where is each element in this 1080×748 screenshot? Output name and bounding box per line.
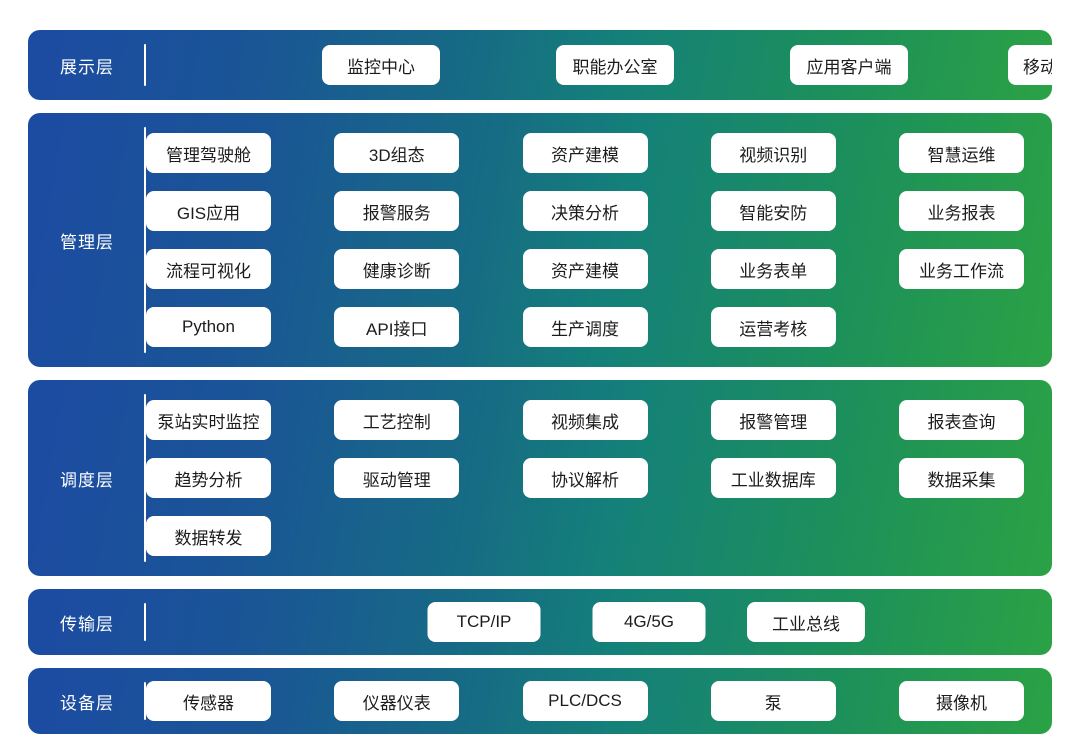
grid-empty-slot xyxy=(334,516,459,556)
layer-body-device: 传感器 仪器仪表 PLC/DCS 泵 摄像机 xyxy=(146,668,1052,734)
card-python[interactable]: Python xyxy=(146,307,271,347)
card-management-cockpit[interactable]: 管理驾驶舱 xyxy=(146,133,271,173)
card-health-diagnosis[interactable]: 健康诊断 xyxy=(334,249,459,289)
card-intelligent-security[interactable]: 智能安防 xyxy=(711,191,836,231)
layer-device: 设备层 传感器 仪器仪表 PLC/DCS 泵 摄像机 xyxy=(28,668,1052,734)
layer-label-management: 管理层 xyxy=(60,228,114,253)
card-alarm-service[interactable]: 报警服务 xyxy=(334,191,459,231)
card-trend-analysis[interactable]: 趋势分析 xyxy=(146,458,271,498)
card-tcp-ip[interactable]: TCP/IP xyxy=(428,602,541,642)
architecture-diagram: 展示层 监控中心 职能办公室 应用客户端 移动智能终端 管理层 管理驾驶舱 3D… xyxy=(0,0,1080,748)
card-functional-office[interactable]: 职能办公室 xyxy=(556,45,674,85)
card-operation-assessment[interactable]: 运营考核 xyxy=(711,307,836,347)
card-api-interface[interactable]: API接口 xyxy=(334,307,459,347)
layer-label-presentation-col: 展示层 xyxy=(28,30,146,100)
card-industrial-bus[interactable]: 工业总线 xyxy=(747,602,865,642)
card-industrial-database[interactable]: 工业数据库 xyxy=(711,458,836,498)
layer-body-management: 管理驾驶舱 3D组态 资产建模 视频识别 智慧运维 GIS应用 报警服务 决策分… xyxy=(146,113,1052,367)
card-pump[interactable]: 泵 xyxy=(711,681,836,721)
layer-body-transmission: TCP/IP 4G/5G 工业总线 xyxy=(146,589,1052,655)
layer-label-device-col: 设备层 xyxy=(28,668,146,734)
grid-empty-slot xyxy=(523,516,648,556)
card-process-control[interactable]: 工艺控制 xyxy=(334,400,459,440)
layer-label-device: 设备层 xyxy=(60,689,114,714)
card-camera[interactable]: 摄像机 xyxy=(899,681,1024,721)
card-instrument[interactable]: 仪器仪表 xyxy=(334,681,459,721)
card-pump-station-realtime-monitoring[interactable]: 泵站实时监控 xyxy=(146,400,271,440)
card-gis-application[interactable]: GIS应用 xyxy=(146,191,271,231)
layer-management: 管理层 管理驾驶舱 3D组态 资产建模 视频识别 智慧运维 GIS应用 报警服务… xyxy=(28,113,1052,367)
card-monitoring-center[interactable]: 监控中心 xyxy=(322,45,440,85)
card-3d-configuration[interactable]: 3D组态 xyxy=(334,133,459,173)
card-report-query[interactable]: 报表查询 xyxy=(899,400,1024,440)
grid-empty-slot xyxy=(899,516,1024,556)
card-production-scheduling[interactable]: 生产调度 xyxy=(523,307,648,347)
card-decision-analysis[interactable]: 决策分析 xyxy=(523,191,648,231)
layer-transmission: 传输层 TCP/IP 4G/5G 工业总线 xyxy=(28,589,1052,655)
card-process-visualization[interactable]: 流程可视化 xyxy=(146,249,271,289)
card-data-forwarding[interactable]: 数据转发 xyxy=(146,516,271,556)
card-application-client[interactable]: 应用客户端 xyxy=(790,45,908,85)
layer-label-transmission-col: 传输层 xyxy=(28,589,146,655)
card-business-workflow[interactable]: 业务工作流 xyxy=(899,249,1024,289)
card-video-recognition[interactable]: 视频识别 xyxy=(711,133,836,173)
card-plc-dcs[interactable]: PLC/DCS xyxy=(523,681,648,721)
management-grid: 管理驾驶舱 3D组态 资产建模 视频识别 智慧运维 GIS应用 报警服务 决策分… xyxy=(146,113,1052,367)
card-smart-operations[interactable]: 智慧运维 xyxy=(899,133,1024,173)
layer-dispatch: 调度层 泵站实时监控 工艺控制 视频集成 报警管理 报表查询 趋势分析 驱动管理… xyxy=(28,380,1052,576)
device-grid: 传感器 仪器仪表 PLC/DCS 泵 摄像机 xyxy=(146,681,1052,721)
card-data-acquisition[interactable]: 数据采集 xyxy=(899,458,1024,498)
layer-presentation: 展示层 监控中心 职能办公室 应用客户端 移动智能终端 xyxy=(28,30,1052,100)
card-business-form[interactable]: 业务表单 xyxy=(711,249,836,289)
card-business-report[interactable]: 业务报表 xyxy=(899,191,1024,231)
layer-label-presentation: 展示层 xyxy=(60,53,114,78)
layer-body-dispatch: 泵站实时监控 工艺控制 视频集成 报警管理 报表查询 趋势分析 驱动管理 协议解… xyxy=(146,380,1052,576)
card-mobile-smart-terminal[interactable]: 移动智能终端 xyxy=(1008,45,1052,85)
card-driver-management[interactable]: 驱动管理 xyxy=(334,458,459,498)
grid-empty-slot xyxy=(899,307,1024,347)
card-sensor[interactable]: 传感器 xyxy=(146,681,271,721)
card-protocol-parsing[interactable]: 协议解析 xyxy=(523,458,648,498)
layer-body-presentation: 监控中心 职能办公室 应用客户端 移动智能终端 xyxy=(146,30,1052,100)
grid-empty-slot xyxy=(711,516,836,556)
dispatch-grid: 泵站实时监控 工艺控制 视频集成 报警管理 报表查询 趋势分析 驱动管理 协议解… xyxy=(146,380,1052,576)
card-asset-modeling[interactable]: 资产建模 xyxy=(523,133,648,173)
card-4g-5g[interactable]: 4G/5G xyxy=(593,602,706,642)
card-alarm-management[interactable]: 报警管理 xyxy=(711,400,836,440)
layer-label-dispatch-col: 调度层 xyxy=(28,380,146,576)
card-asset-modeling-2[interactable]: 资产建模 xyxy=(523,249,648,289)
layer-label-transmission: 传输层 xyxy=(60,610,114,635)
layer-label-management-col: 管理层 xyxy=(28,113,146,367)
layer-label-dispatch: 调度层 xyxy=(60,466,114,491)
card-video-integration[interactable]: 视频集成 xyxy=(523,400,648,440)
